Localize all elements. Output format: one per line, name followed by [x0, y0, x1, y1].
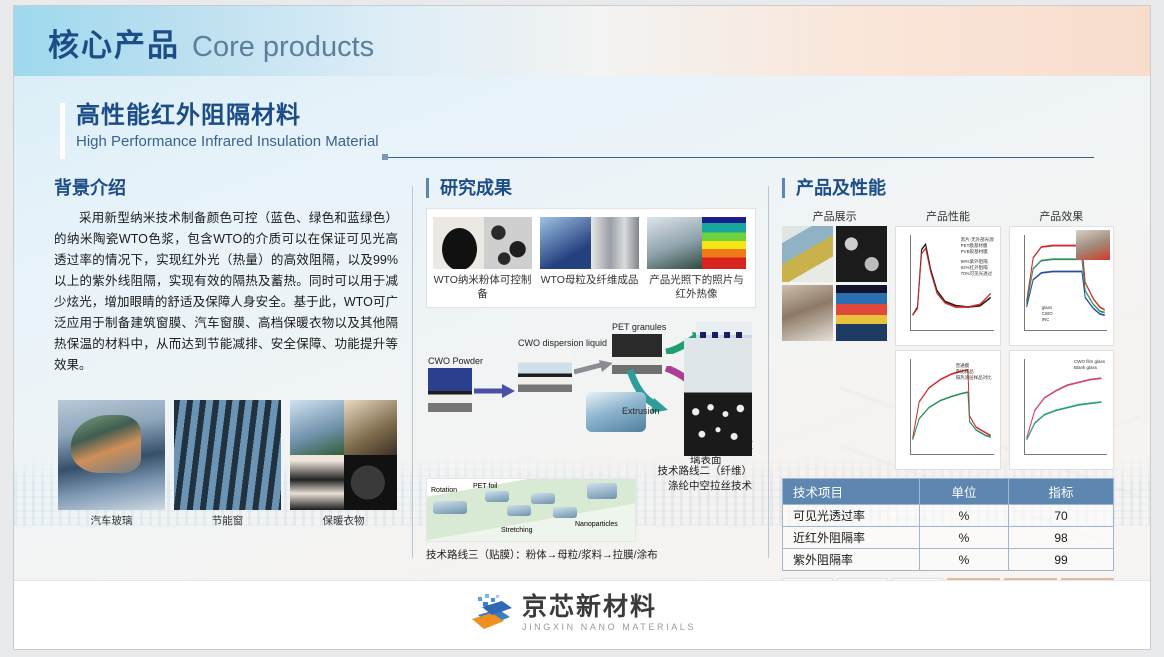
column-header-value: 指标: [1009, 479, 1114, 505]
logo-text: 京芯新材料 JINGXIN NANO MATERIALS: [522, 594, 696, 633]
brand-name-cn: 京芯新材料: [522, 594, 696, 621]
chart-legend-bottom: 普通膜 参比样品 隔热涂层样品对比: [956, 363, 992, 381]
legend-entry: 隔热涂层样品对比: [956, 375, 992, 381]
column-research: 研究成果 WTO纳米粉体可控制备 WTO母粒及纤维成品 产品光照下的照片与红外热…: [426, 178, 756, 568]
cell-unit: %: [920, 527, 1009, 549]
table-row: 紫外阻隔率 % 99: [783, 549, 1114, 571]
page-title-en: Core products: [192, 31, 374, 63]
slide-footer: 京芯新材料 JINGXIN NANO MATERIALS: [14, 580, 1150, 649]
application-caption: 汽车玻璃: [58, 514, 165, 528]
research-result-caption: 产品光照下的照片与红外热像: [647, 273, 746, 301]
table-row: 近红外阻隔率 % 98: [783, 527, 1114, 549]
page-title-cn: 核心产品: [48, 28, 180, 63]
jingxin-logo-icon: [468, 593, 512, 633]
effect-chart-top: glass CWO IRC: [1009, 226, 1114, 346]
application-caption: 保暖衣物: [290, 514, 397, 528]
chart-legend-top: 黑片-无外部光源 PET膜基材膜 PVB胶基材膜 99%紫外阻隔 92%红外阻隔…: [961, 237, 994, 277]
three-column-layout: 背景介绍 采用新型纳米技术制备颜色可控（蓝色、绿色和蓝绿色）的纳米陶瓷WTO色浆…: [54, 178, 1114, 568]
column-divider-1: [412, 186, 413, 558]
section-accent-bar: [60, 103, 65, 159]
legend-entry: IRC: [1042, 317, 1053, 323]
route-two-subtitle: 涤纶中空拉丝技术: [668, 480, 752, 492]
packaged-powder-photo: [836, 226, 887, 282]
subheading-performance: 产品性能: [895, 208, 1000, 224]
wto-masterbatch-photo: [540, 217, 639, 269]
cell-value: 98: [1009, 527, 1114, 549]
research-result-item: WTO母粒及纤维成品: [540, 217, 639, 301]
flow-label-nanoparticles: Nanoparticles: [575, 521, 618, 528]
thermal-camera-photo: [836, 285, 887, 341]
flow-label-pet-foil: PET foil: [473, 483, 497, 490]
flow-node-powder: CWO Powder: [428, 356, 472, 412]
application-photo-strip: 汽车玻璃 节能窗 保暖衣物: [58, 400, 398, 528]
application-caption: 节能窗: [174, 514, 281, 528]
flow-label-powder: CWO Powder: [428, 356, 472, 366]
demo-photo-inset: [1076, 230, 1110, 260]
page-title: 核心产品Core products: [48, 20, 374, 65]
company-logo: 京芯新材料 JINGXIN NANO MATERIALS: [468, 593, 696, 633]
performance-chart-top: 黑片-无外部光源 PET膜基材膜 PVB胶基材膜 99%紫外阻隔 92%红外阻隔…: [895, 226, 1000, 346]
glass-samples-photo: [782, 226, 833, 282]
slide-header-bar: 核心产品Core products: [14, 6, 1150, 76]
effect-chart-bottom: CWO film glass Blank glass: [1009, 350, 1114, 470]
product-showcase-photos: [782, 226, 887, 470]
product-heading: 产品及性能: [782, 178, 1114, 198]
route-three-note: 技术路线三（贴膜）：粉体→母粒/浆料→拉膜/涂布: [426, 548, 658, 563]
section-title-cn: 高性能红外阻隔材料: [76, 101, 379, 131]
cell-item: 紫外阻隔率: [783, 549, 920, 571]
column-background: 背景介绍 采用新型纳米技术制备颜色可控（蓝色、绿色和蓝绿色）的纳米陶瓷WTO色浆…: [54, 178, 402, 568]
chart-legend-absorption: CWO film glass Blank glass: [1074, 359, 1105, 371]
research-result-caption: WTO纳米粉体可控制备: [433, 273, 532, 301]
cell-value: 70: [1009, 505, 1114, 527]
absorption-curve-svg: [1025, 360, 1106, 444]
background-paragraph: 采用新型纳米技术制备颜色可控（蓝色、绿色和蓝绿色）的纳米陶瓷WTO色浆，包含WT…: [54, 208, 402, 376]
hollow-fiber-photo: [684, 338, 752, 456]
research-heading: 研究成果: [426, 178, 756, 198]
car-glass-photo: [58, 400, 165, 510]
specification-table: 技术项目 单位 指标 可见光透过率 % 70 近红外阻隔率: [782, 478, 1114, 571]
product-media-grid: 黑片-无外部光源 PET膜基材膜 PVB胶基材膜 99%紫外阻隔 92%红外阻隔…: [782, 226, 1114, 470]
application-item: 节能窗: [174, 400, 281, 528]
cell-unit: %: [920, 549, 1009, 571]
subheading-showcase: 产品展示: [782, 208, 887, 224]
research-results-card: WTO纳米粉体可控制备 WTO母粒及纤维成品 产品光照下的照片与红外热像: [426, 208, 756, 308]
flow-node-granules: PET granules: [612, 322, 662, 374]
flow-label-granules: PET granules: [612, 322, 662, 332]
brand-name-en: JINGXIN NANO MATERIALS: [522, 621, 696, 633]
cell-unit: %: [920, 505, 1009, 527]
slide: 核心产品Core products 高性能红外阻隔材料 High Perform…: [0, 0, 1164, 657]
performance-chart-bottom: 普通膜 参比样品 隔热涂层样品对比: [895, 350, 1000, 470]
product-subheadings: 产品展示 产品性能 产品效果: [782, 208, 1114, 224]
table-row: 可见光透过率 % 70: [783, 505, 1114, 527]
background-heading: 背景介绍: [54, 178, 402, 198]
research-result-item: WTO纳米粉体可控制备: [433, 217, 532, 301]
application-item: 保暖衣物: [290, 400, 397, 528]
product-effect-charts: glass CWO IRC: [1009, 226, 1114, 470]
infrared-thermal-photo: [647, 217, 746, 269]
cell-item: 可见光透过率: [783, 505, 920, 527]
application-item: 汽车玻璃: [58, 400, 165, 528]
lab-test-photo: [782, 285, 833, 341]
wto-powder-photo: [433, 217, 532, 269]
cwo-powder-photo: [428, 368, 472, 412]
flow-arrow-1: [474, 382, 516, 398]
cwo-dispersion-photo: [518, 350, 572, 392]
research-result-item: 产品光照下的照片与红外热像: [647, 217, 746, 301]
column-product: 产品及性能 产品展示 产品性能 产品效果: [782, 178, 1114, 568]
section-divider-rule: [388, 157, 1094, 158]
column-divider-2: [768, 186, 769, 558]
cell-value: 99: [1009, 549, 1114, 571]
flow-label-stretching: Stretching: [501, 527, 533, 534]
flow-label-dispersion: CWO dispersion liquid: [518, 338, 572, 348]
section-title-en: High Performance Infrared Insulation Mat…: [76, 131, 379, 153]
research-result-caption: WTO母粒及纤维成品: [540, 273, 639, 287]
energy-window-photo: [174, 400, 281, 510]
slide-content: 高性能红外阻隔材料 High Performance Infrared Insu…: [14, 76, 1150, 581]
route-two-note: 技术路线二（纤维） 涤纶中空拉丝技术: [594, 464, 752, 494]
column-header-unit: 单位: [920, 479, 1009, 505]
table-header-row: 技术项目 单位 指标: [783, 479, 1114, 505]
route-two-title: 技术路线二（纤维）: [658, 465, 753, 477]
flow-label-rotation: Rotation: [431, 487, 457, 494]
chart-legend-effect: glass CWO IRC: [1042, 305, 1053, 323]
legend-entry: Blank glass: [1074, 365, 1105, 371]
flow-label-extrusion: Extrusion: [622, 406, 660, 416]
column-header-item: 技术项目: [783, 479, 920, 505]
cell-item: 近红外阻隔率: [783, 527, 920, 549]
chart-annotation: 70%可见光透过: [961, 271, 994, 277]
flow-arrow-2: [574, 360, 614, 376]
slide-page: 核心产品Core products 高性能红外阻隔材料 High Perform…: [14, 6, 1150, 649]
section-heading: 高性能红外阻隔材料 High Performance Infrared Insu…: [60, 101, 379, 153]
subheading-effect: 产品效果: [1009, 208, 1114, 224]
product-performance-charts: 黑片-无外部光源 PET膜基材膜 PVB胶基材膜 99%紫外阻隔 92%红外阻隔…: [895, 226, 1000, 470]
warm-clothing-photo: [290, 400, 397, 510]
flow-node-dispersion: CWO dispersion liquid: [518, 338, 572, 392]
